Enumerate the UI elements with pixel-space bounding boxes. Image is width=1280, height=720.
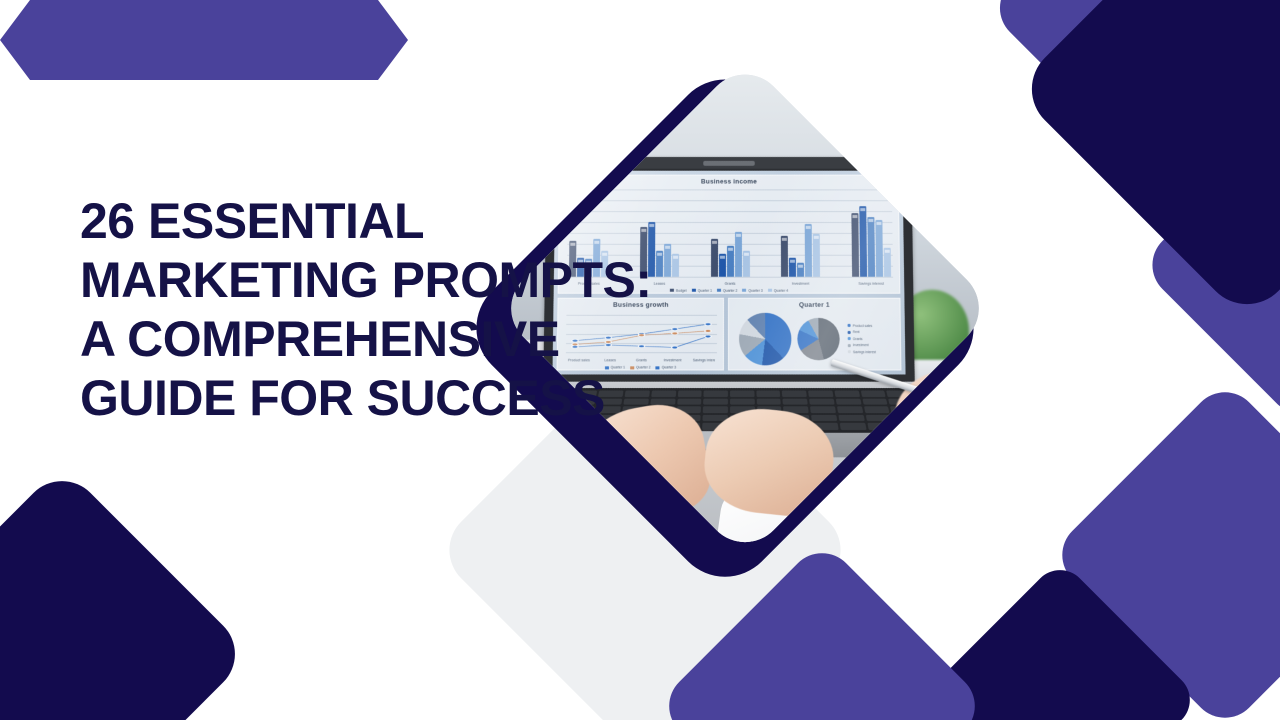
pie-chart-large <box>739 313 791 366</box>
webcam-strip-icon <box>703 161 755 166</box>
axis-tick-label: Savings interest <box>851 281 891 285</box>
banner-canvas: Business income Product salesLeasesGrant… <box>0 0 1280 720</box>
page-title: 26 Essential Marketing Prompts: A Compre… <box>80 192 720 428</box>
bar <box>797 263 804 277</box>
bar <box>742 251 749 277</box>
hero-photo-diamond: Business income Product salesLeasesGrant… <box>725 58 1265 598</box>
legend-item: Grants <box>848 337 876 341</box>
pie-chart-small <box>797 318 840 360</box>
legend-item: Quarter 4 <box>768 288 788 292</box>
bar <box>734 232 741 276</box>
bar <box>781 235 788 276</box>
laptop-bezel <box>547 157 912 169</box>
legend-item: Rent <box>848 330 876 334</box>
bar <box>859 207 867 277</box>
legend-item: Investment <box>848 343 876 347</box>
pie-charts: Product salesRentGrantsInvestmentSavings… <box>735 316 896 361</box>
bar <box>867 217 875 277</box>
bar <box>875 220 883 276</box>
panel-title-quarter: Quarter 1 <box>729 298 899 308</box>
panel-quarter-1: Quarter 1 Product salesRentGrantsInvestm… <box>728 297 901 370</box>
legend-item: Quarter 3 <box>742 288 762 292</box>
bar <box>805 224 812 277</box>
bar <box>813 234 820 277</box>
bar <box>789 258 796 277</box>
decor-bottom-left-purple-bar <box>0 0 408 80</box>
second-person-sleeve <box>959 402 995 486</box>
decor-bottom-left-navy-square <box>0 464 252 720</box>
legend-item: Product sales <box>848 324 876 328</box>
legend-item: Savings interest <box>848 350 876 354</box>
legend-item: Quarter 2 <box>717 288 737 292</box>
bar <box>726 246 733 277</box>
bar-group <box>851 191 891 276</box>
bar <box>851 213 859 276</box>
bar-group <box>781 191 820 276</box>
pie-legend: Product salesRentGrantsInvestmentSavings… <box>848 324 876 354</box>
bar <box>884 247 891 276</box>
axis-tick-label: Investment <box>781 281 821 285</box>
